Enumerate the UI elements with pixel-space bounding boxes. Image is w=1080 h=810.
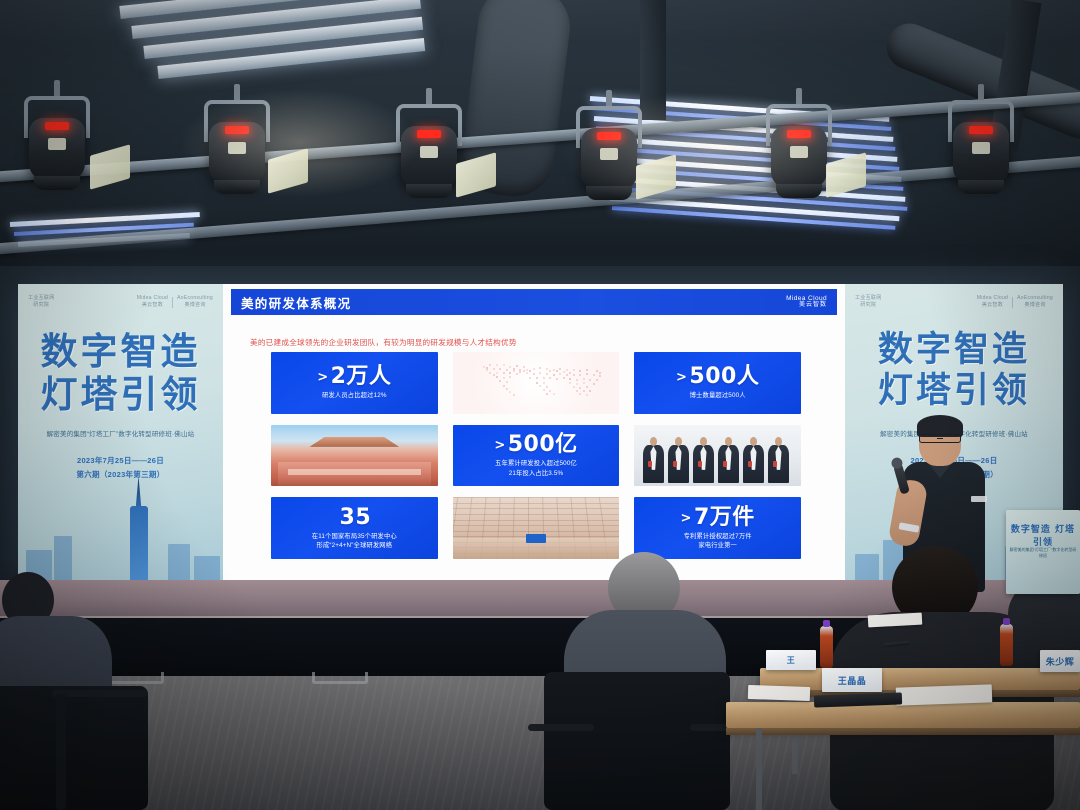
conference-photo-scene: 工业互联网 研究院 Midea Cloud 美云智数 AoEconsulting… <box>0 0 1080 810</box>
pagoda-graphic <box>117 476 161 584</box>
stage-bracket <box>312 672 368 684</box>
stat-subtitle-2: 21年投入占比3.5% <box>509 469 564 478</box>
eyeglasses-icon <box>919 434 961 443</box>
chair-armrest <box>52 690 148 697</box>
stat-value: >7万件 <box>681 506 755 529</box>
name-placard: 王 <box>766 650 816 670</box>
chair <box>0 686 148 810</box>
banner-title: 数字智造 灯塔引领 <box>18 330 223 416</box>
partner-logo-icon: AoEconsulting 奥博咨询 <box>1017 295 1053 310</box>
fixture-status-led <box>969 126 993 134</box>
chair <box>544 672 730 810</box>
anechoic-chamber-photo <box>453 497 620 559</box>
team-member-figure <box>718 437 740 483</box>
presentation-slide: 美的研发体系概况 Midea Cloud 美云智数 美的已建成全球领先的企业研发… <box>223 284 845 584</box>
stat-subtitle: 博士数量超过500人 <box>690 391 746 400</box>
stage-light-fixture <box>942 96 1020 200</box>
world-dot-map-photo <box>453 352 620 414</box>
stat-prefix: > <box>681 511 692 526</box>
midea-cloud-logo-icon: Midea Cloud 美云智数 <box>977 295 1008 310</box>
award-team-photo <box>634 425 801 487</box>
conference-table <box>726 702 1080 728</box>
name-placard: 朱少辉 <box>1040 650 1080 672</box>
team-member-figure <box>693 437 715 483</box>
event-banner-left: 工业互联网 研究院 Midea Cloud 美云智数 AoEconsulting… <box>18 284 223 584</box>
logo-divider <box>1012 297 1013 308</box>
team-member-figure <box>643 437 665 483</box>
stat-subtitle: 研发人员占比超过12% <box>322 391 387 400</box>
name-placard: 王晶晶 <box>822 668 882 692</box>
stat-value: >500亿 <box>494 433 577 456</box>
stat-card: 35 在11个国家布局35个研发中心 形成“2+4+N”全球研发网络 <box>271 497 438 559</box>
fixture-status-led <box>417 130 441 138</box>
stat-subtitle: 五年累计研发投入超过500亿 <box>495 459 577 468</box>
table-leg <box>756 728 762 810</box>
polo-logo <box>971 496 987 502</box>
stat-prefix: > <box>317 370 328 385</box>
ceiling-structure <box>0 0 1080 282</box>
placard-name: 王 <box>787 655 796 666</box>
fixture-status-led <box>45 122 69 130</box>
stat-card: >500亿 五年累计研发投入超过500亿 21年投入占比3.5% <box>453 425 620 487</box>
banner-title: 数字智造 灯塔引领 <box>845 330 1063 412</box>
slide-header-bar: 美的研发体系概况 Midea Cloud 美云智数 <box>231 289 837 315</box>
banner-subtitle: 解密美的集团“灯塔工厂”数字化转型研修班·佛山站 <box>26 430 215 440</box>
team-member-figure <box>743 437 765 483</box>
fixture-status-led <box>597 132 621 140</box>
logo-divider <box>172 297 173 308</box>
stat-subtitle: 专利累计授权超过7万件 <box>684 532 752 541</box>
stage-light-fixture <box>18 92 96 196</box>
stat-card: >2万人 研发人员占比超过12% <box>271 352 438 414</box>
stat-card: >500人 博士数量超过500人 <box>634 352 801 414</box>
mini-banner-title: 数字智造 灯塔引领 <box>1006 522 1080 548</box>
stat-subtitle-2: 家电行业第一 <box>698 541 737 550</box>
stage-light-fixture <box>198 96 276 200</box>
team-member-figure <box>768 437 790 483</box>
document-paper <box>896 684 993 705</box>
mini-banner-subtitle: 解密美的集团“灯塔工厂”数字化转型研修班 <box>1009 547 1077 560</box>
midea-cloud-brand-logo: Midea Cloud 美云智数 <box>786 295 827 309</box>
slide-lead-text: 美的已建成全球领先的企业研发团队，有较为明显的研发规模与人才结构优势 <box>250 337 517 348</box>
barn-door-flag <box>90 144 130 189</box>
banner-logo-row: 工业互联网 研究院 Midea Cloud 美云智数 AoEconsulting… <box>855 293 1053 311</box>
stat-prefix: > <box>676 370 687 385</box>
chair-post <box>56 694 66 810</box>
fixture-status-led <box>787 130 811 138</box>
chair-armrest <box>528 724 594 731</box>
organizer-logo-icon: 工业互联网 研究院 <box>28 295 55 310</box>
midea-cloud-logo-icon: Midea Cloud 美云智数 <box>137 295 168 310</box>
stat-value: >2万人 <box>317 365 391 388</box>
stat-prefix: > <box>494 438 505 453</box>
banner-logo-row: 工业互联网 研究院 Midea Cloud 美云智数 AoEconsulting… <box>28 293 213 311</box>
document-paper <box>748 685 810 701</box>
team-member-figure <box>668 437 690 483</box>
placard-name: 朱少辉 <box>1046 655 1075 668</box>
water-bottle <box>1000 624 1013 666</box>
organizer-logo-icon: 工业互联网 研究院 <box>855 295 882 310</box>
fixture-status-led <box>225 126 249 134</box>
stat-subtitle-2: 形成“2+4+N”全球研发网络 <box>316 541 392 550</box>
assembly-hall-photo <box>271 425 438 487</box>
stat-card: >7万件 专利累计授权超过7万件 家电行业第一 <box>634 497 801 559</box>
stat-value: >500人 <box>676 365 759 388</box>
placard-name: 王晶晶 <box>838 674 867 687</box>
partner-logo-icon: AoEconsulting 奥博咨询 <box>177 295 213 310</box>
stat-subtitle: 在11个国家布局35个研发中心 <box>312 532 397 541</box>
water-bottle <box>820 626 833 668</box>
slide-title: 美的研发体系概况 <box>241 293 351 312</box>
mini-banner-display: 数字智造 灯塔引领 解密美的集团“灯塔工厂”数字化转型研修班 <box>1006 510 1080 594</box>
slide-stat-grid: >2万人 研发人员占比超过12% >500人 博士数量超过500人 <box>271 352 801 559</box>
stat-value: 35 <box>338 506 372 529</box>
